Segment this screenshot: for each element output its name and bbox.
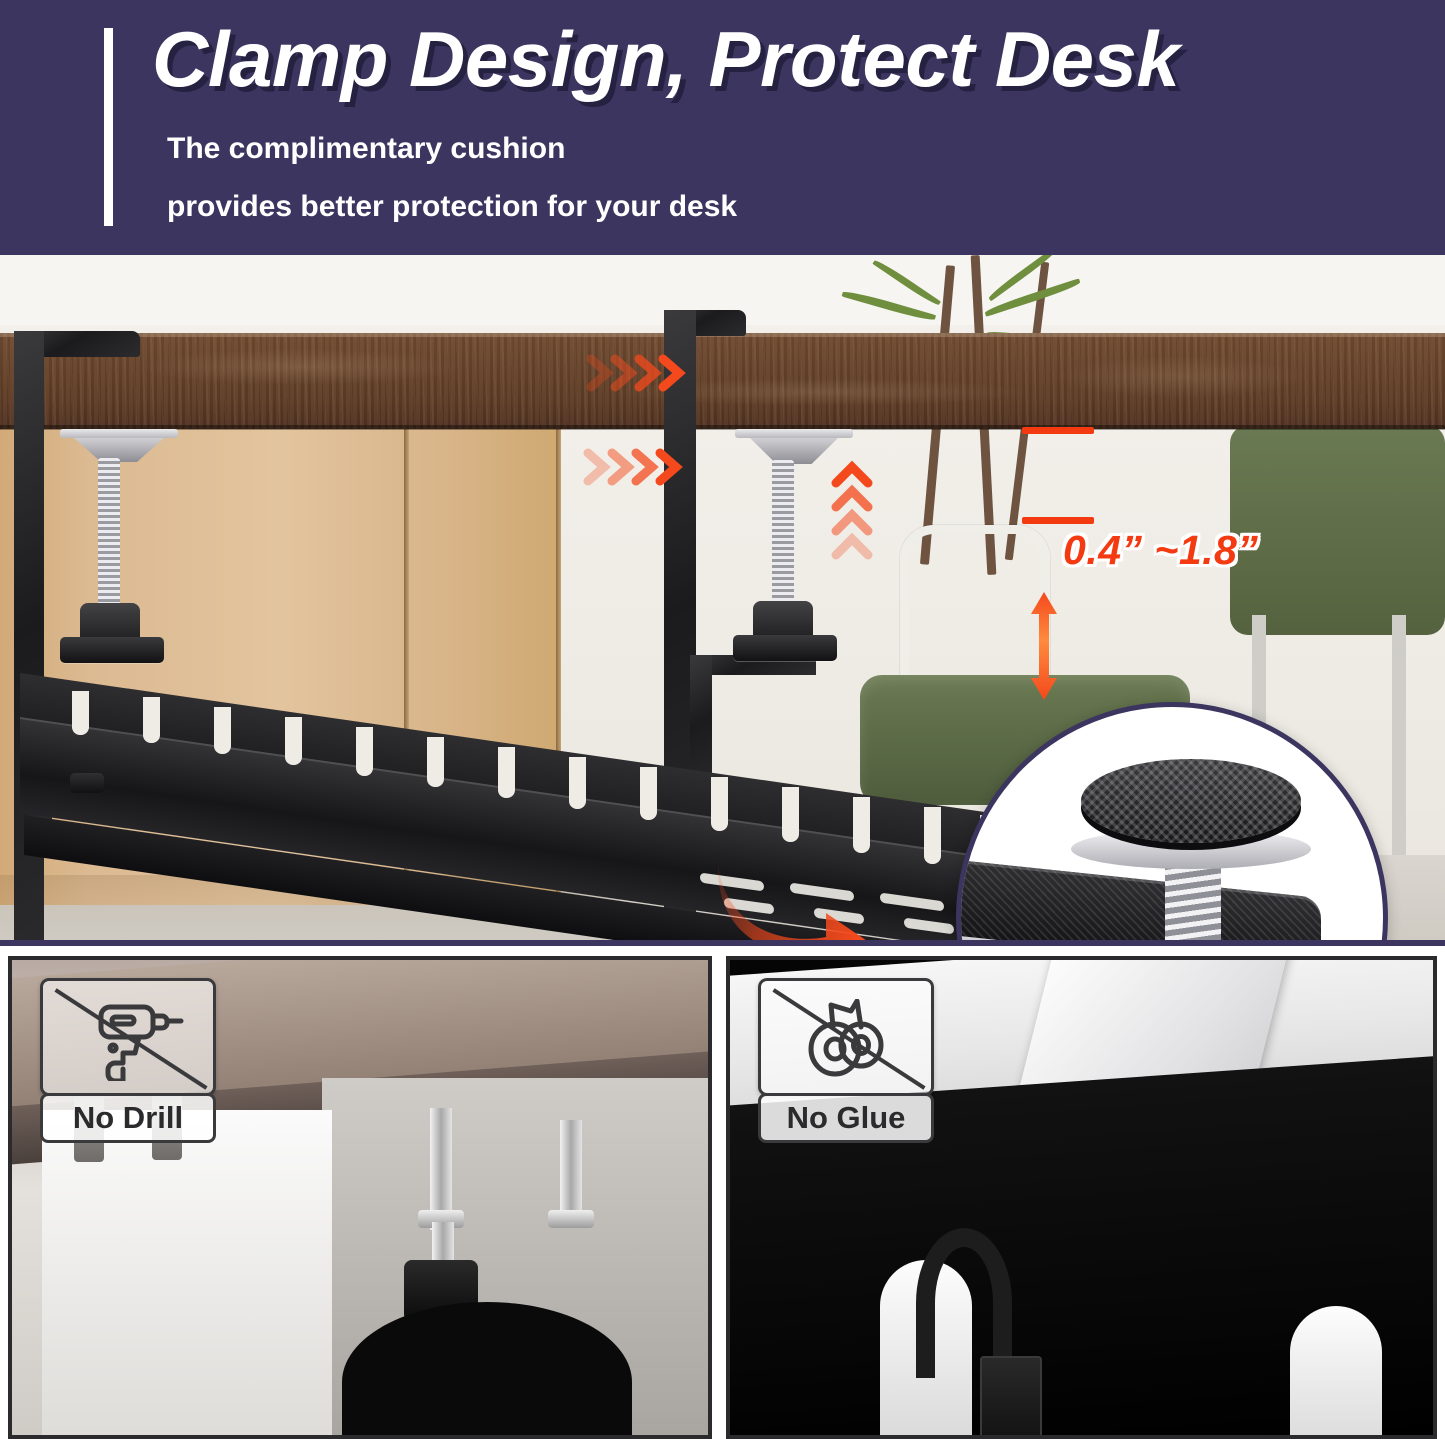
- inset-screw-thread-upper: [1165, 859, 1221, 942]
- badge-icon-box: [40, 978, 216, 1096]
- tray-slot: [427, 737, 444, 787]
- chevron-arrows-upper: [585, 351, 705, 395]
- thickness-double-arrow-icon: [1030, 592, 1058, 700]
- tray-slot: [640, 767, 657, 820]
- tray-slot: [782, 787, 799, 842]
- tray-slot: [214, 707, 231, 754]
- rotation-arrow-icon: [714, 851, 882, 942]
- left-screw-pad-plate: [60, 429, 178, 438]
- header-banner: Clamp Design, Protect Desk The complimen…: [0, 0, 1445, 255]
- inset-soft-pad: [1081, 759, 1301, 843]
- tray-slot: [924, 807, 941, 864]
- section-divider: [0, 940, 1445, 946]
- tray-slot: [569, 757, 586, 809]
- screw-collar-secondary: [548, 1210, 594, 1228]
- product-feature-image: Clamp Design, Protect Desk The complimen…: [0, 0, 1445, 1439]
- no-glue-label: No Glue: [758, 1093, 934, 1143]
- dim-tick-top: [1022, 427, 1094, 434]
- cable-management-tray: [0, 665, 1075, 935]
- desk-wood-grain: [0, 337, 1445, 425]
- left-screw-rod: [98, 458, 120, 608]
- light-gap: [1290, 1306, 1382, 1439]
- tray-slot: [853, 797, 870, 853]
- dim-tick-bottom: [1022, 517, 1094, 524]
- page-title: Clamp Design, Protect Desk: [152, 14, 1179, 105]
- cable-plug: [980, 1356, 1042, 1439]
- right-screw-pad-plate: [735, 429, 853, 438]
- badge-icon-box: [758, 978, 934, 1096]
- tray-slot: [72, 691, 89, 735]
- tray-slot: [498, 747, 515, 798]
- no-drill-panel: No Drill: [8, 956, 712, 1439]
- chair-leg: [1392, 615, 1406, 865]
- right-clamp-knob-wing: [733, 635, 837, 661]
- chevron-arrows-lower: [582, 445, 702, 489]
- screw-rod-secondary: [560, 1120, 582, 1224]
- tray-slot: [143, 697, 160, 743]
- desk-thickness-label: 0.4” ~1.8”: [1063, 527, 1258, 574]
- tray-slot: [356, 727, 373, 776]
- left-clamp-knob-wing: [60, 637, 164, 663]
- chevron-arrows-vertical: [828, 455, 876, 573]
- tray-slot: [285, 717, 302, 765]
- no-drill-badge: No Drill: [40, 978, 216, 1143]
- main-product-scene: 0.4” ~1.8” Soft pads prote: [0, 255, 1445, 942]
- no-glue-panel: No Glue: [726, 956, 1437, 1439]
- subtitle-line-1: The complimentary cushion: [167, 132, 565, 166]
- inset-clamp-arm: [956, 856, 1321, 942]
- subtitle-line-2: provides better protection for your desk: [167, 190, 737, 224]
- tray-slot: [711, 777, 728, 831]
- no-glue-badge: No Glue: [758, 978, 934, 1143]
- no-drill-label: No Drill: [40, 1093, 216, 1143]
- accent-bar: [104, 28, 113, 226]
- desk-edge-shadow: [0, 425, 1445, 430]
- tray-foot: [70, 773, 104, 793]
- chair-backrest: [1230, 425, 1445, 635]
- right-screw-rod: [772, 460, 794, 605]
